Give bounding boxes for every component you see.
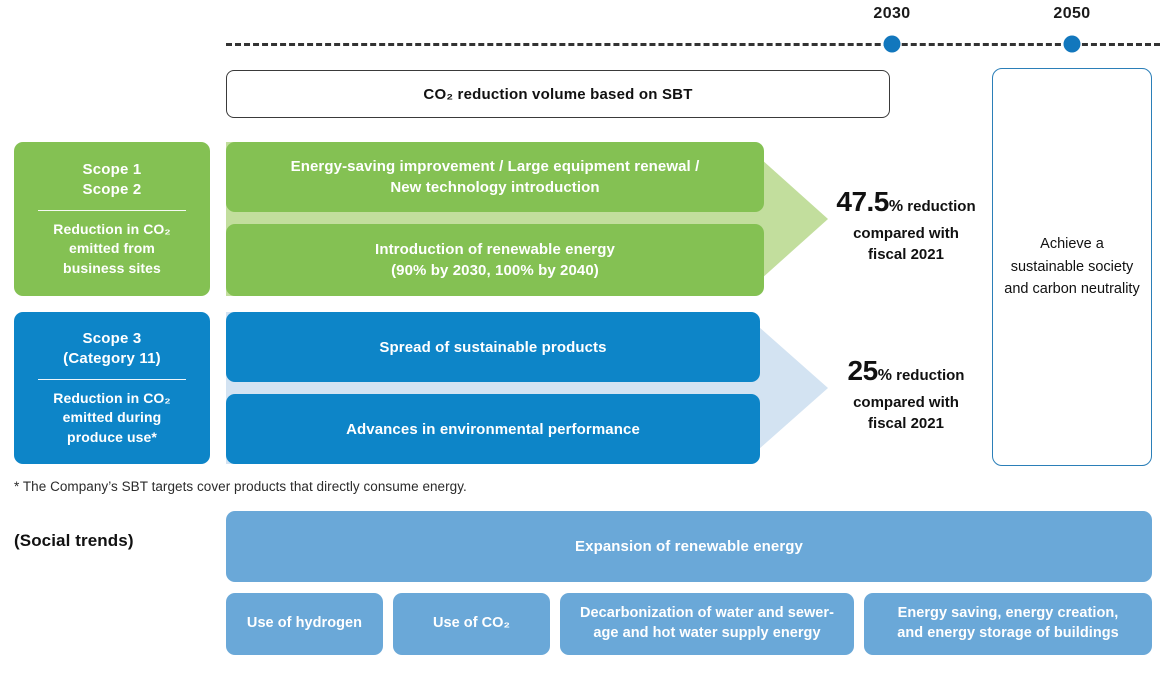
social-trend-cell-co2-text: Use of CO₂ [433,614,510,634]
social-trend-cell-hydrogen-text: Use of hydrogen [247,614,362,634]
blue-measure-1-text: Spread of sustainable products [379,337,606,358]
sbt-banner: CO₂ reduction volume based on SBT [226,70,890,118]
scope-card-scope3: Scope 3 (Category 11) Reduction in CO₂ e… [14,312,210,464]
scope3-title-line2: (Category 11) [63,350,161,367]
reduction-scope3-line2: compared with [828,392,984,414]
scope12-title-line1: Scope 1 [83,161,142,178]
blue-arrow-group: Spread of sustainable products Advances … [226,312,828,464]
scope12-divider [38,210,186,212]
reduction-scope3-line3: fiscal 2021 [828,413,984,435]
reduction-scope12-word: reduction [903,198,976,215]
infographic-canvas: 2030 2050 CO₂ reduction volume based on … [0,0,1164,673]
scope12-sub-line3: business sites [63,260,161,276]
social-trends-label: (Social trends) [14,531,134,551]
scope12-subtitle: Reduction in CO₂ emitted from business s… [53,220,170,278]
reduction-scope12-line3: fiscal 2021 [828,244,984,266]
scope-card-scope12: Scope 1 Scope 2 Reduction in CO₂ emitted… [14,142,210,296]
scope12-title: Scope 1 Scope 2 [83,160,142,201]
social-trend-wide-text: Expansion of renewable energy [575,538,803,555]
blue-measure-2-text: Advances in environmental performance [346,419,640,440]
goal-box-text: Achieve a sustainable society and carbon… [1003,233,1141,300]
social-trend-wide: Expansion of renewable energy [226,511,1152,582]
timeline-year-2030: 2030 [873,5,910,23]
timeline-dashed-line [226,43,1160,46]
reduction-scope12-percent: % [889,198,903,215]
social-trend-cell-hydrogen: Use of hydrogen [226,593,383,655]
scope3-sub-line1: Reduction in CO₂ [53,390,170,406]
social-trend-cell-decarbonization: Decarbonization of water and sewer- age … [560,593,854,655]
scope3-divider [38,379,186,381]
scope12-sub-line2: emitted from [69,240,155,256]
timeline-dot-2030 [884,36,901,53]
reduction-callout-scope3: 25% reduction compared with fiscal 2021 [828,351,984,435]
social-trend-cell-co2: Use of CO₂ [393,593,550,655]
scope3-title: Scope 3 (Category 11) [63,329,161,370]
social-trend-cell-decarbonization-text: Decarbonization of water and sewer- age … [580,604,834,643]
goal-box-2050: Achieve a sustainable society and carbon… [992,68,1152,466]
green-measure-1: Energy-saving improvement / Large equipm… [226,142,764,212]
sbt-banner-label: CO₂ reduction volume based on SBT [423,86,692,103]
scope3-subtitle: Reduction in CO₂ emitted during produce … [53,389,170,447]
reduction-scope12-line1: 47.5% reduction [828,182,984,223]
green-measure-1-text: Energy-saving improvement / Large equipm… [291,156,700,198]
reduction-scope3-line1: 25% reduction [828,351,984,392]
reduction-scope12-line2: compared with [828,223,984,245]
green-arrow-group: Energy-saving improvement / Large equipm… [226,142,828,296]
social-trend-cell-buildings-text: Energy saving, energy creation, and ener… [897,604,1119,643]
scope3-sub-line2: emitted during [63,409,162,425]
reduction-scope12-value: 47.5 [836,186,889,217]
green-measure-2: Introduction of renewable energy (90% by… [226,224,764,296]
scope3-title-line1: Scope 3 [83,330,142,347]
scope3-sub-line3: produce use* [67,429,157,445]
timeline-dot-2050 [1064,36,1081,53]
blue-measure-2: Advances in environmental performance [226,394,760,464]
footnote: * The Company’s SBT targets cover produc… [14,479,467,494]
green-measure-2-text: Introduction of renewable energy (90% by… [375,239,615,281]
reduction-callout-scope12: 47.5% reduction compared with fiscal 202… [828,182,984,266]
timeline-year-2050: 2050 [1053,5,1090,23]
scope12-title-line2: Scope 2 [83,181,142,198]
blue-measure-1: Spread of sustainable products [226,312,760,382]
reduction-scope3-word: reduction [892,367,965,384]
social-trend-cell-buildings: Energy saving, energy creation, and ener… [864,593,1152,655]
reduction-scope3-percent: % [878,367,892,384]
reduction-scope3-value: 25 [848,355,878,386]
scope12-sub-line1: Reduction in CO₂ [53,221,170,237]
